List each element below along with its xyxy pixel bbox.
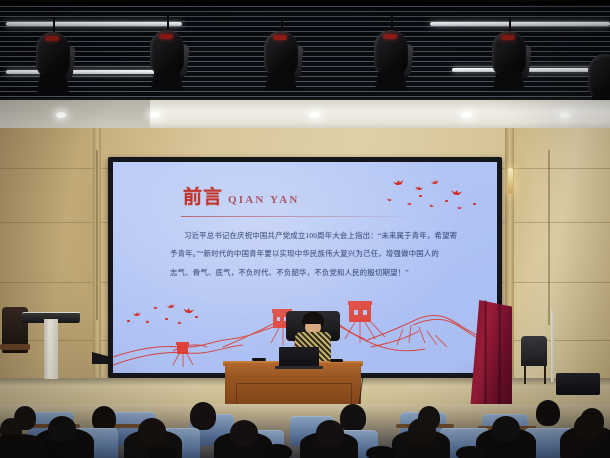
audience-head	[190, 402, 216, 430]
chair-right	[521, 336, 547, 366]
microphone	[252, 358, 266, 361]
stage-spotlight-icon	[490, 25, 532, 89]
audience-head	[366, 446, 396, 458]
slide-title: 前言 QIAN YAN	[183, 188, 300, 207]
slide-body-line: 志气、骨气、底气，不负时代、不负韶华，不负党和人民的殷切期望！”	[170, 269, 446, 276]
audience	[0, 398, 610, 458]
ceiling-downlight	[310, 112, 320, 118]
floor-speaker-right	[556, 373, 600, 395]
wall-door-frame-right	[548, 150, 606, 325]
slide-title-en: QIAN YAN	[228, 194, 300, 207]
screenshot-root: 前言 QIAN YAN 习近平总书记在庆祝中国共产党成立100周年大会上指出：“…	[0, 0, 610, 458]
ceiling-slat-panel-left	[0, 6, 160, 98]
audience-head	[574, 414, 602, 440]
stage-spotlight-icon	[372, 24, 414, 88]
ceiling-rail	[0, 2, 610, 5]
audience-head	[48, 416, 76, 442]
slide-body-line: 习近平总书记在庆祝中国共产党成立100周年大会上指出：“未来属于青年，希望寄	[170, 232, 446, 239]
presenter-fringe	[304, 318, 322, 324]
flying-birds-icon	[127, 304, 205, 332]
stage-spotlight-icon	[262, 25, 304, 89]
stage-spotlight-icon	[148, 24, 190, 88]
audience-head	[340, 404, 366, 432]
stand-pole	[551, 310, 554, 382]
curtain-fold	[484, 300, 487, 410]
slide-title-cn: 前言	[183, 188, 223, 207]
flying-birds-icon	[385, 176, 491, 218]
audience-head	[456, 446, 486, 458]
ceiling-downlight	[150, 112, 160, 118]
laptop-base	[275, 366, 323, 369]
ceiling-downlight	[560, 112, 570, 118]
audience-head	[408, 418, 436, 444]
slide-title-divider	[181, 216, 419, 217]
ceiling-light-tube	[6, 70, 158, 74]
ceiling-downlight	[56, 112, 66, 118]
microphone	[330, 359, 343, 362]
wall-door-frame-left	[34, 150, 98, 320]
curtain-fold	[498, 300, 501, 410]
slide-body-line: 予青年。”“新时代的中国青年要以实现中华民族伟大复兴为己任，增强做中国人的	[170, 250, 446, 257]
chair-right-leg	[544, 364, 546, 384]
stage-spotlight-icon	[34, 26, 76, 90]
laptop[interactable]	[279, 347, 319, 368]
white-lectern	[44, 319, 58, 379]
audience-head	[148, 446, 178, 458]
audience-head	[138, 418, 166, 444]
chair-left-arm	[0, 344, 30, 350]
ceiling-cove-left	[0, 100, 150, 130]
chair-right-leg	[524, 364, 526, 384]
audience-head	[262, 444, 292, 458]
wall-sconce-light	[508, 168, 513, 194]
slide-body-text: 习近平总书记在庆祝中国共产党成立100周年大会上指出：“未来属于青年，希望寄 予…	[170, 232, 446, 287]
ceiling-downlight	[462, 112, 472, 118]
audience-head	[536, 400, 560, 426]
audience-head	[316, 420, 344, 446]
audience-person	[0, 434, 46, 458]
audience-head	[230, 420, 258, 446]
audience-head	[492, 416, 520, 442]
